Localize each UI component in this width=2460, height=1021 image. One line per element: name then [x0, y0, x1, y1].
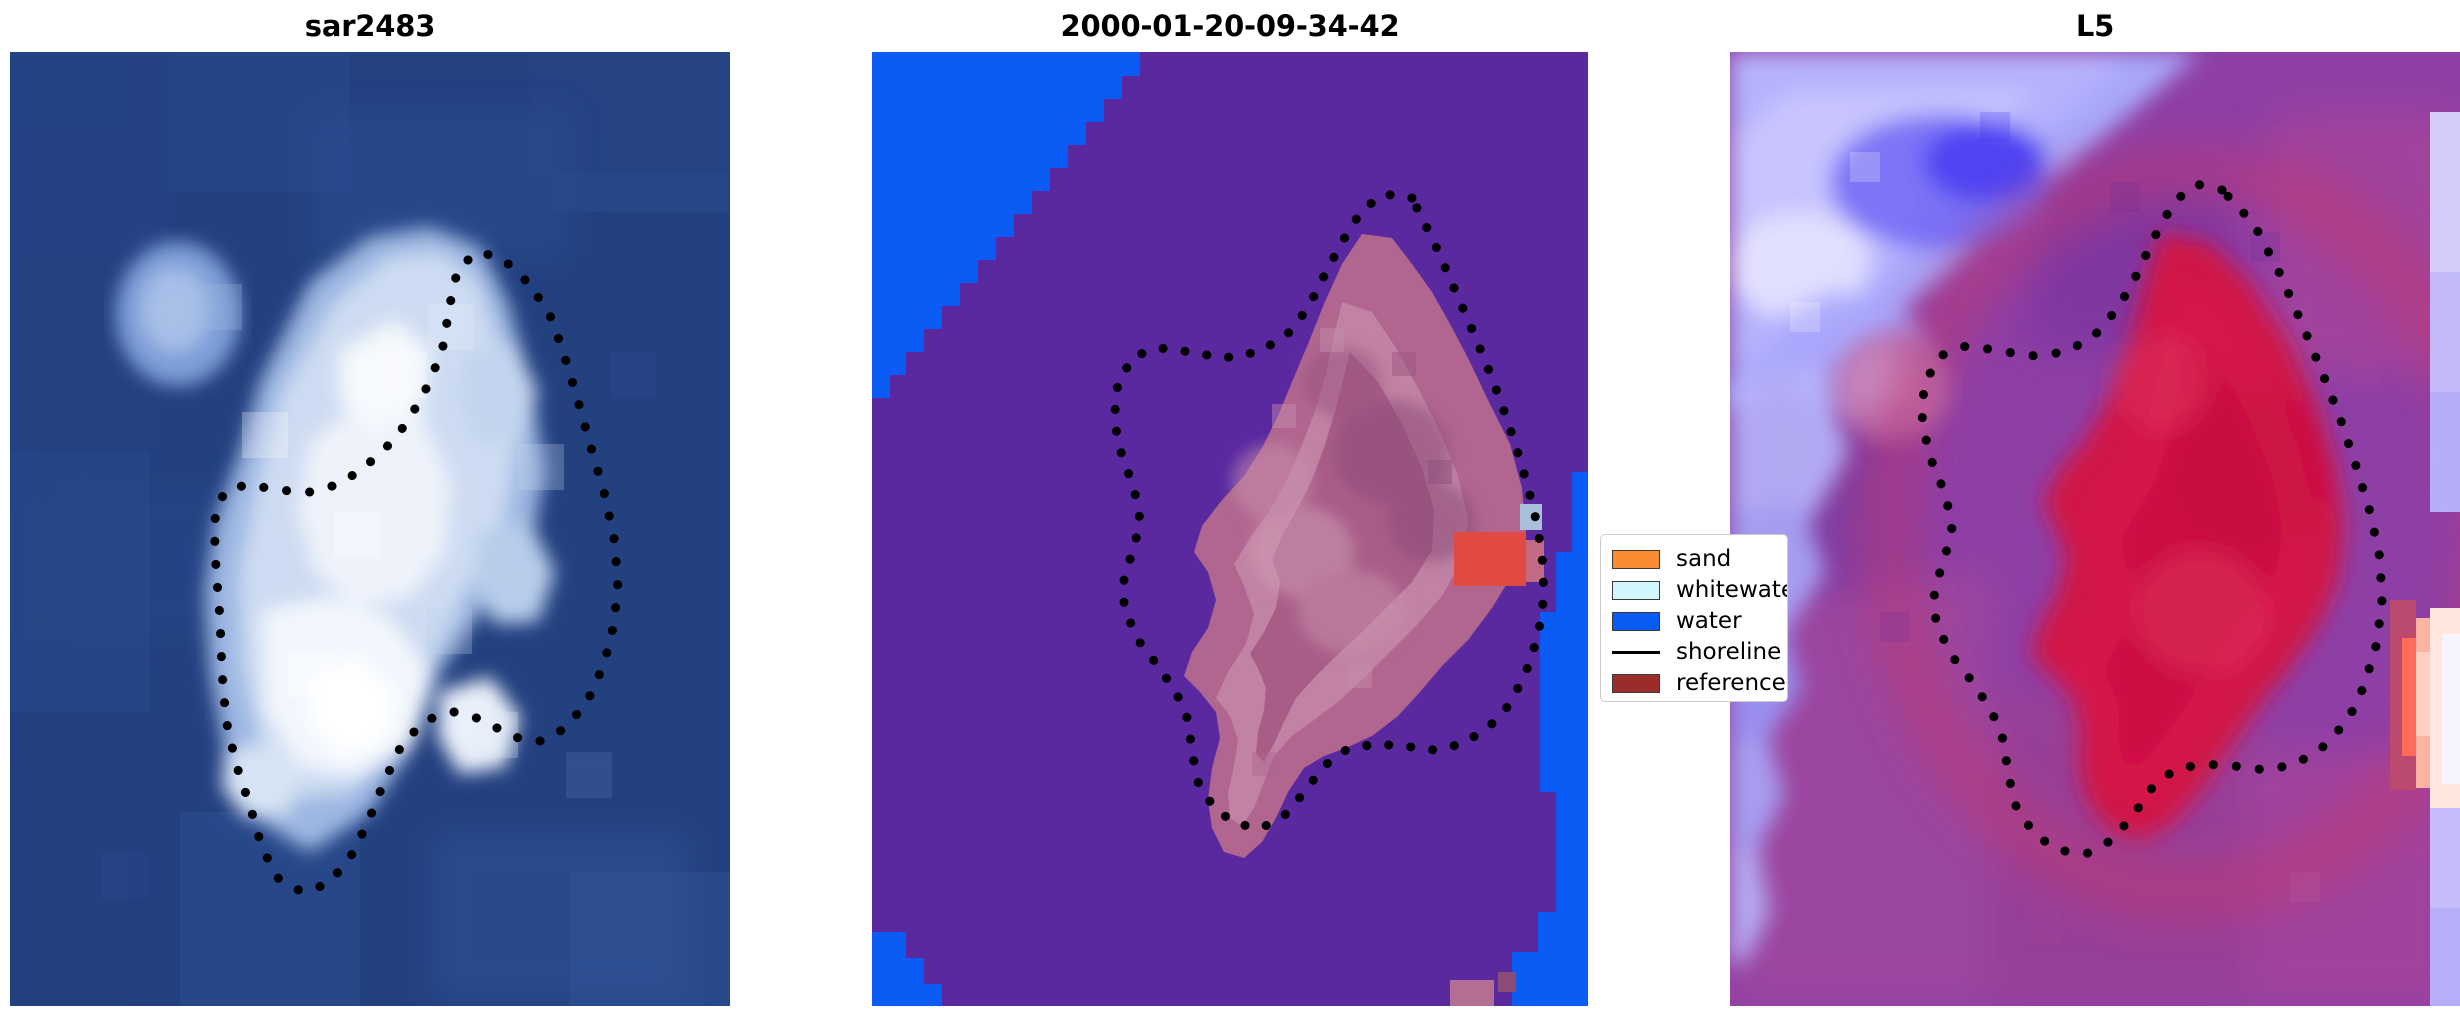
l5-sand-strip — [2390, 600, 2460, 808]
axes-sar-image[interactable] — [10, 52, 730, 1006]
reference-patch — [1454, 532, 1526, 586]
legend: sand whitewater water shoreline referenc… — [1600, 534, 1788, 702]
panel-title-l5: L5 — [1730, 0, 2460, 52]
panel-title-classification: 2000-01-20-09-34-42 — [872, 0, 1588, 52]
legend-label-water: water — [1676, 610, 1742, 633]
legend-label-shoreline: shoreline — [1676, 641, 1781, 664]
classification-image — [872, 52, 1588, 1006]
legend-label-whitewater: whitewater — [1676, 579, 1788, 602]
panel-l5: L5 — [1730, 0, 2460, 1006]
legend-swatch-whitewater-icon — [1612, 581, 1660, 600]
panel-sar: sar2483 — [10, 0, 730, 1006]
legend-item-sand[interactable]: sand — [1612, 544, 1779, 575]
panel-classification: 2000-01-20-09-34-42 — [872, 0, 1588, 1006]
legend-swatch-shoreline-icon — [1612, 651, 1660, 654]
legend-label-sand: sand — [1676, 548, 1731, 571]
legend-swatch-reference-icon — [1612, 674, 1660, 693]
axes-l5-image[interactable] — [1730, 52, 2460, 1006]
legend-item-shoreline[interactable]: shoreline — [1612, 637, 1779, 668]
l5-image — [1730, 52, 2460, 1006]
legend-swatch-sand-icon — [1612, 550, 1660, 569]
land-pixel-bottom — [1450, 980, 1494, 1006]
axes-classification-image[interactable] — [872, 52, 1588, 1006]
legend-label-reference: reference — [1676, 672, 1786, 695]
sar-image — [10, 52, 730, 1006]
legend-item-reference[interactable]: reference — [1612, 668, 1779, 699]
legend-item-whitewater[interactable]: whitewater — [1612, 575, 1779, 606]
panel-title-sar: sar2483 — [10, 0, 730, 52]
legend-item-water[interactable]: water — [1612, 606, 1779, 637]
figure-canvas: sar2483 — [0, 0, 2460, 1021]
legend-swatch-water-icon — [1612, 612, 1660, 631]
